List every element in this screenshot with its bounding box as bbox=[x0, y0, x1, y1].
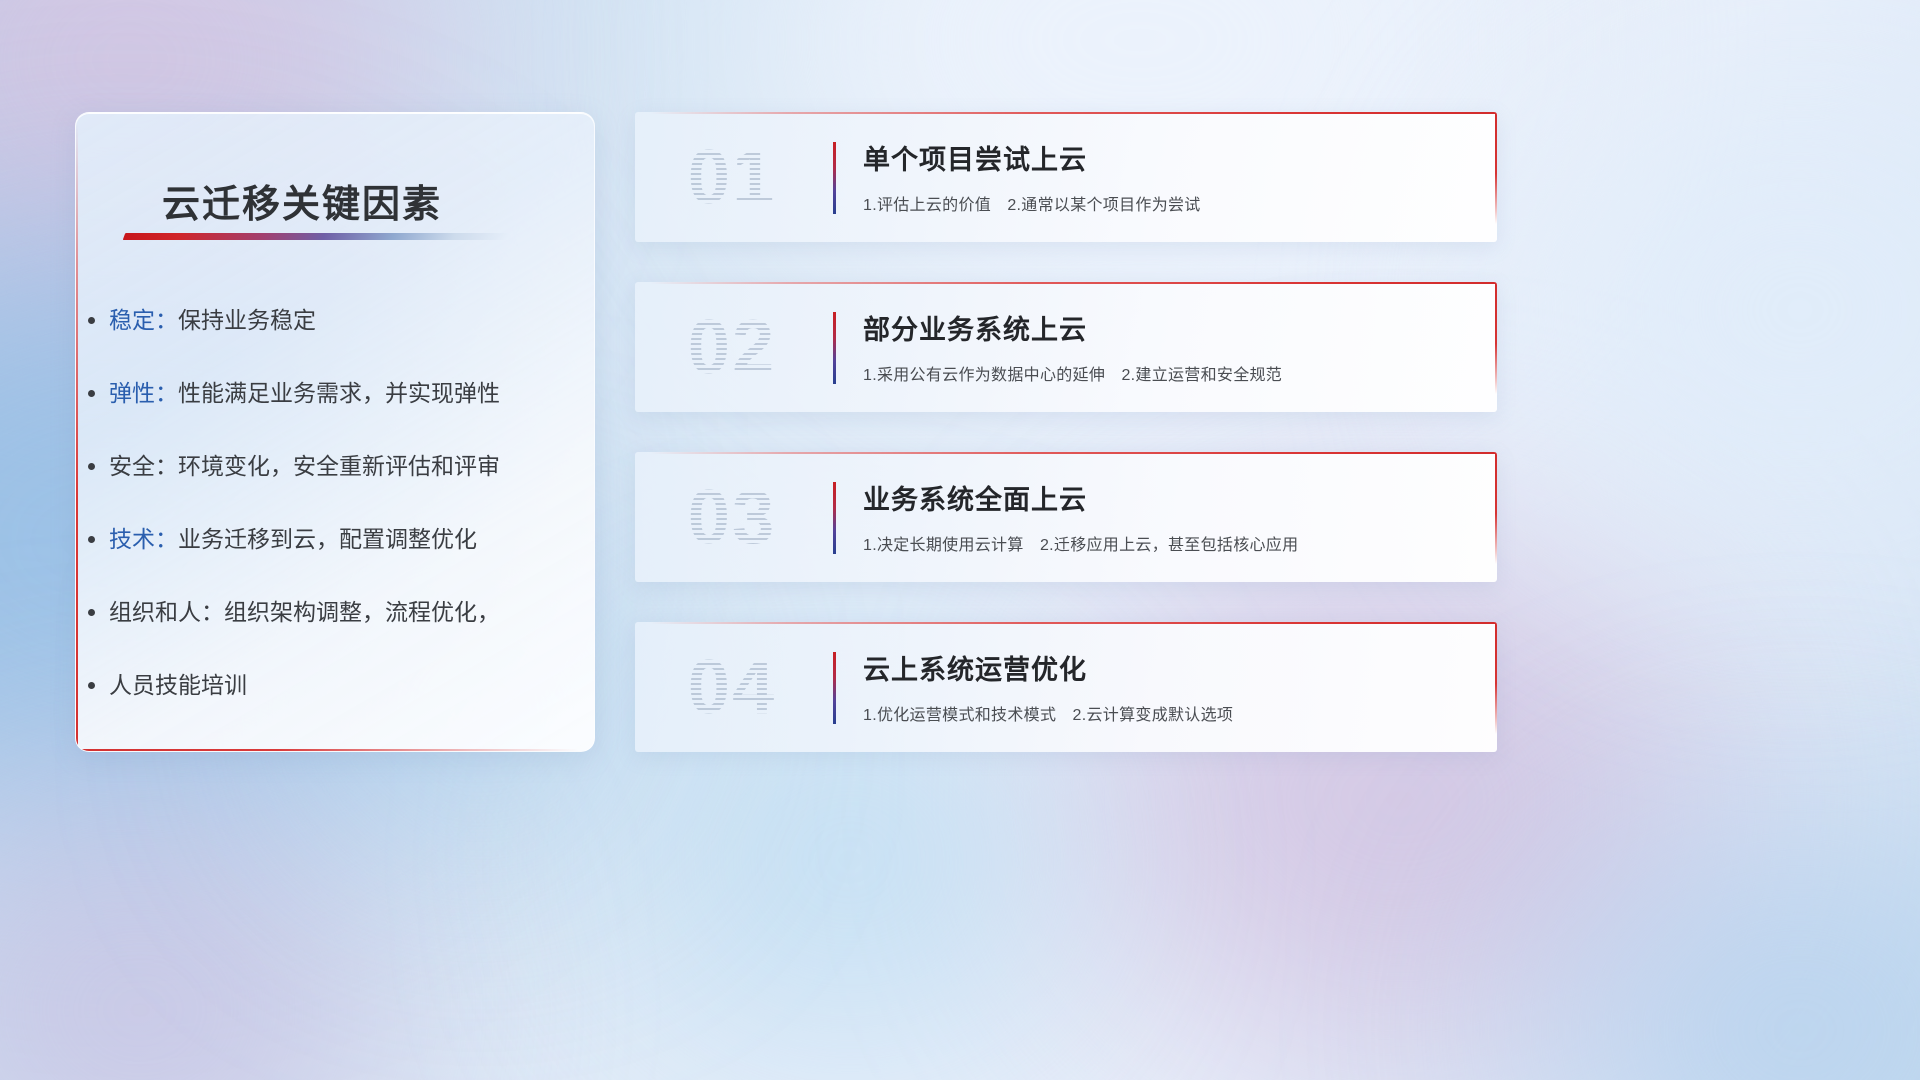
stage-card[interactable]: 04云上系统运营优化1.优化运营模式和技术模式 2.云计算变成默认选项 bbox=[635, 622, 1497, 752]
key-factor-value: 组织架构调整，流程优化， bbox=[224, 599, 500, 625]
slide-stage: 云迁移关键因素 稳定：保持业务稳定弹性：性能满足业务需求，并实现弹性安全：环境变… bbox=[0, 0, 1920, 1080]
key-factor-label: 技术： bbox=[109, 526, 178, 552]
panel-title: 云迁移关键因素 bbox=[162, 173, 442, 228]
card-top-accent-bar bbox=[651, 622, 1497, 624]
key-factor-item: 稳定：保持业务稳定 bbox=[109, 309, 570, 332]
key-factor-label: 稳定： bbox=[109, 307, 178, 333]
stage-number: 01 bbox=[657, 128, 807, 228]
stage-title: 业务系统全面上云 bbox=[863, 478, 1087, 517]
key-factor-value: 环境变化，安全重新评估和评审 bbox=[178, 453, 500, 479]
key-factors-list: 稳定：保持业务稳定弹性：性能满足业务需求，并实现弹性安全：环境变化，安全重新评估… bbox=[109, 309, 570, 747]
card-right-accent-bar bbox=[1495, 112, 1497, 224]
stage-title: 云上系统运营优化 bbox=[863, 648, 1087, 687]
stage-card[interactable]: 01单个项目尝试上云1.评估上云的价值 2.通常以某个项目作为尝试 bbox=[635, 112, 1497, 242]
card-divider bbox=[833, 312, 836, 384]
stage-title: 单个项目尝试上云 bbox=[863, 138, 1087, 177]
panel-left-accent-bar bbox=[76, 123, 78, 751]
card-divider bbox=[833, 142, 836, 214]
stage-subtitle: 1.采用公有云作为数据中心的延伸 2.建立运营和安全规范 bbox=[863, 361, 1282, 385]
key-factor-value: 性能满足业务需求，并实现弹性 bbox=[178, 380, 500, 406]
key-factor-item: 技术：业务迁移到云，配置调整优化 bbox=[109, 528, 570, 551]
key-factor-item: 弹性：性能满足业务需求，并实现弹性 bbox=[109, 382, 570, 405]
stage-subtitle: 1.决定长期使用云计算 2.迁移应用上云，甚至包括核心应用 bbox=[863, 531, 1298, 555]
stage-card[interactable]: 02部分业务系统上云1.采用公有云作为数据中心的延伸 2.建立运营和安全规范 bbox=[635, 282, 1497, 412]
key-factor-item: 安全：环境变化，安全重新评估和评审 bbox=[109, 455, 570, 478]
stage-number: 04 bbox=[657, 638, 807, 738]
stage-card[interactable]: 03业务系统全面上云1.决定长期使用云计算 2.迁移应用上云，甚至包括核心应用 bbox=[635, 452, 1497, 582]
key-factor-label: 安全： bbox=[109, 453, 178, 479]
card-top-accent-bar bbox=[651, 452, 1497, 454]
panel-bottom-accent-bar bbox=[76, 749, 578, 751]
card-top-accent-bar bbox=[651, 282, 1497, 284]
card-divider bbox=[833, 652, 836, 724]
stage-subtitle: 1.评估上云的价值 2.通常以某个项目作为尝试 bbox=[863, 191, 1201, 215]
stage-title: 部分业务系统上云 bbox=[863, 308, 1087, 347]
key-factor-item: 组织和人：组织架构调整，流程优化， bbox=[109, 601, 570, 624]
key-factor-item: 人员技能培训 bbox=[109, 674, 570, 697]
key-factor-value: 保持业务稳定 bbox=[178, 307, 316, 333]
card-top-accent-bar bbox=[651, 112, 1497, 114]
stage-number: 02 bbox=[657, 298, 807, 398]
key-factor-value: 业务迁移到云，配置调整优化 bbox=[178, 526, 477, 552]
stage-subtitle: 1.优化运营模式和技术模式 2.云计算变成默认选项 bbox=[863, 701, 1233, 725]
key-factor-value: 人员技能培训 bbox=[109, 672, 247, 698]
stage-number: 03 bbox=[657, 468, 807, 568]
card-divider bbox=[833, 482, 836, 554]
card-right-accent-bar bbox=[1495, 452, 1497, 564]
panel-title-underline bbox=[123, 233, 510, 240]
key-factor-label: 组织和人： bbox=[109, 599, 224, 625]
key-factor-label: 弹性： bbox=[109, 380, 178, 406]
key-factors-panel: 云迁移关键因素 稳定：保持业务稳定弹性：性能满足业务需求，并实现弹性安全：环境变… bbox=[75, 112, 595, 752]
stages-card-list: 01单个项目尝试上云1.评估上云的价值 2.通常以某个项目作为尝试02部分业务系… bbox=[635, 112, 1497, 792]
card-right-accent-bar bbox=[1495, 622, 1497, 734]
card-right-accent-bar bbox=[1495, 282, 1497, 394]
